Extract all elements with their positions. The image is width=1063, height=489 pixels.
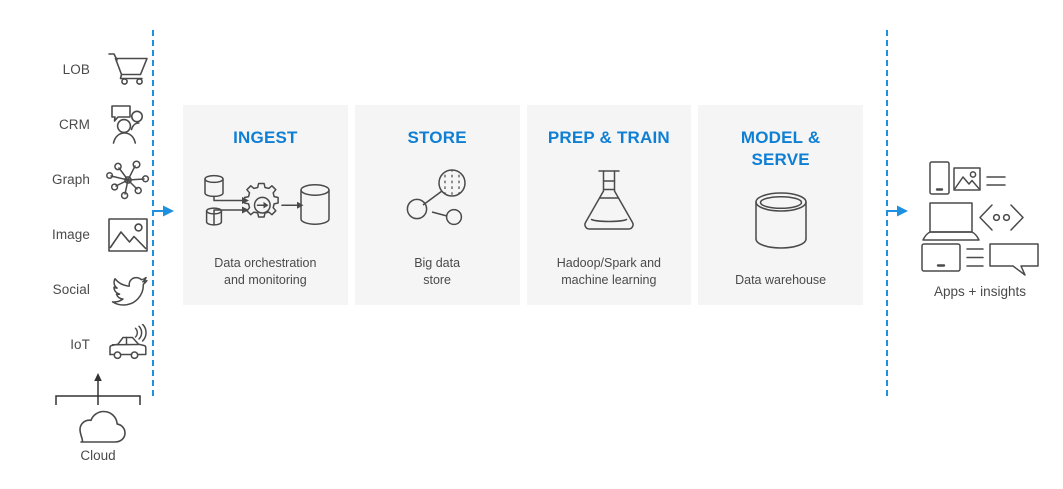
laptop-icon <box>923 203 979 240</box>
source-label: CRM <box>59 117 90 132</box>
pipeline-stages: INGEST <box>183 105 863 305</box>
stage-title: STORE <box>407 127 466 149</box>
code-brackets-icon <box>980 205 1023 230</box>
big-data-store-icon <box>355 149 520 255</box>
speech-bubble-icon <box>990 244 1038 275</box>
data-sources-list: LOB CRM <box>0 42 150 372</box>
cloud-icon <box>67 408 129 446</box>
source-item-graph: Graph <box>0 152 150 207</box>
pipeline-stage-store[interactable]: STORE <box>355 105 520 305</box>
flask-icon <box>527 149 692 255</box>
picture-icon <box>954 168 980 190</box>
source-label: Image <box>52 227 90 242</box>
pipeline-stage-model-serve[interactable]: MODEL & SERVE Data warehouse <box>698 105 863 305</box>
source-item-social: Social <box>0 262 150 317</box>
database-cylinder-icon <box>698 171 863 272</box>
bird-icon <box>106 268 150 312</box>
pipeline-stage-prep-train[interactable]: PREP & TRAIN Hadoop/Spark and machine le… <box>527 105 692 305</box>
source-item-image: Image <box>0 207 150 262</box>
cloud-connector-arrow <box>46 372 150 408</box>
connected-car-icon <box>106 323 150 367</box>
source-item-iot: IoT <box>0 317 150 372</box>
source-label: Social <box>53 282 90 297</box>
apps-insights-group: Apps + insights <box>900 160 1060 299</box>
source-label: IoT <box>70 337 90 352</box>
stage-caption: Data warehouse <box>727 272 834 289</box>
stage-caption: Data orchestration and monitoring <box>206 255 324 289</box>
source-item-crm: CRM <box>0 97 150 152</box>
picture-icon <box>106 213 150 257</box>
apps-insights-icons <box>917 160 1043 276</box>
left-rail-arrow-icon <box>154 205 176 217</box>
text-lines-icon <box>967 249 983 266</box>
phone-icon <box>930 162 949 194</box>
stage-title: PREP & TRAIN <box>548 127 670 149</box>
source-label: Graph <box>52 172 90 187</box>
stage-title: INGEST <box>233 127 298 149</box>
diagram-canvas: LOB CRM <box>0 0 1063 489</box>
network-graph-icon <box>106 158 150 202</box>
apps-insights-label: Apps + insights <box>900 284 1060 299</box>
text-lines-icon <box>987 177 1005 185</box>
stage-caption: Big data store <box>406 255 468 289</box>
data-orchestration-icon <box>183 149 348 255</box>
shopping-cart-icon <box>106 48 150 92</box>
pipeline-stage-ingest[interactable]: INGEST <box>183 105 348 305</box>
stage-title: MODEL & SERVE <box>741 127 820 171</box>
people-chat-icon <box>106 103 150 147</box>
tablet-icon <box>922 244 960 271</box>
cloud-label: Cloud <box>46 448 150 463</box>
source-label: LOB <box>63 62 90 77</box>
source-item-lob: LOB <box>0 42 150 97</box>
stage-caption: Hadoop/Spark and machine learning <box>549 255 669 289</box>
cloud-source-group: Cloud <box>46 372 150 463</box>
